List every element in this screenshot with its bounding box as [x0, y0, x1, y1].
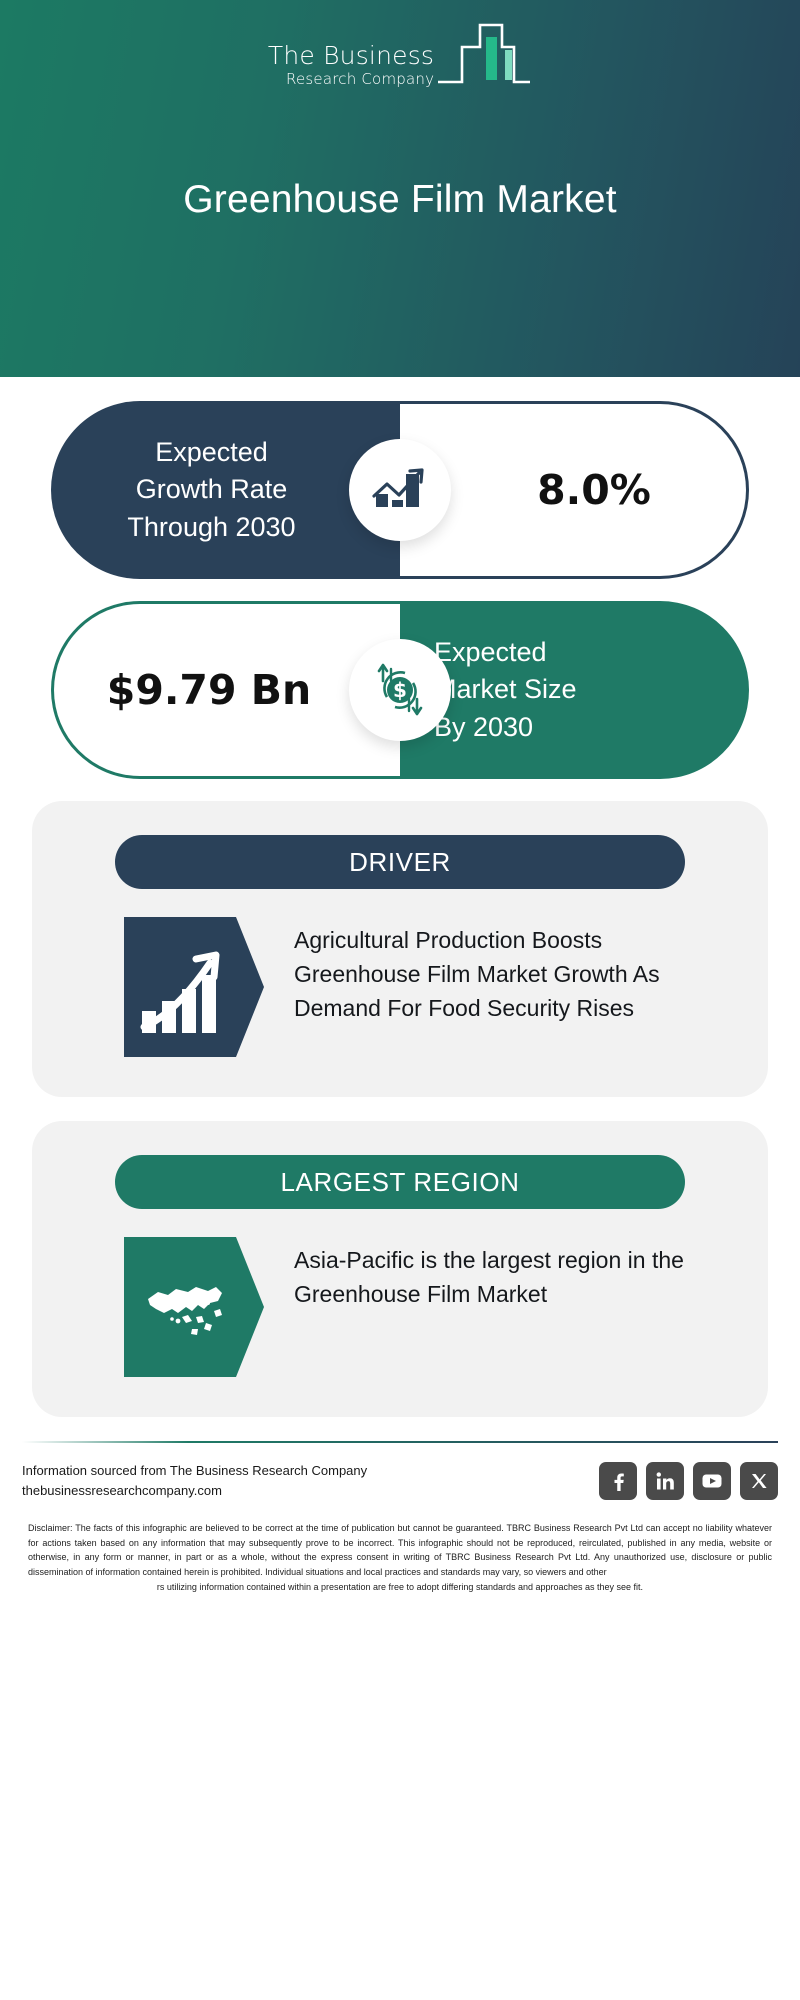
stat-label-line-2: Market Size: [434, 674, 577, 704]
header-banner: The Business Research Company Greenhouse…: [0, 0, 800, 377]
stat-value: $9.79 Bn: [107, 666, 347, 714]
social-links: [599, 1462, 778, 1500]
footer: Information sourced from The Business Re…: [0, 1441, 800, 1594]
disclaimer-last-line: rs utilizing information contained withi…: [28, 1580, 772, 1595]
section-text: Agricultural Production Boosts Greenhous…: [294, 917, 728, 1025]
stat-label-line-2: Growth Rate: [136, 474, 288, 504]
stat-value-panel: 8.0%: [400, 401, 749, 579]
section-pill-driver: DRIVER: [115, 835, 685, 889]
disclaimer-body: Disclaimer: The facts of this infographi…: [28, 1523, 772, 1577]
growth-chart-arrow-icon: [349, 439, 451, 541]
stat-label-line-1: Expected: [434, 637, 547, 667]
infographic-page: The Business Research Company Greenhouse…: [0, 0, 800, 2000]
dollar-circulation-icon: $: [349, 639, 451, 741]
stat-label: Expected Market Size By 2030: [400, 634, 749, 746]
x-twitter-icon[interactable]: [740, 1462, 778, 1500]
section-driver: DRIVER Agricultural Production Boosts Gr…: [32, 801, 768, 1097]
facebook-icon[interactable]: [599, 1462, 637, 1500]
logo-secondary-text: Research Company: [268, 70, 434, 90]
stat-label: Expected Growth Rate Through 2030: [127, 434, 323, 546]
stat-value: 8.0%: [495, 466, 651, 514]
svg-text:$: $: [393, 678, 407, 702]
stat-label-line-1: Expected: [155, 437, 268, 467]
asia-pacific-map-icon: [124, 1237, 264, 1377]
footer-source-line-2[interactable]: thebusinessresearchcompany.com: [22, 1481, 367, 1501]
rising-bar-chart-arrow-icon: [124, 917, 264, 1057]
stat-label-panel: Expected Growth Rate Through 2030: [51, 401, 400, 579]
youtube-icon[interactable]: [693, 1462, 731, 1500]
disclaimer-text: Disclaimer: The facts of this infographi…: [22, 1521, 778, 1594]
section-largest-region: LARGEST REGION: [32, 1121, 768, 1417]
section-pill-largest-region: LARGEST REGION: [115, 1155, 685, 1209]
footer-divider: [22, 1441, 778, 1443]
company-logo: The Business Research Company: [0, 20, 800, 93]
page-title: Greenhouse Film Market: [0, 178, 800, 222]
stat-label-line-3: Through 2030: [127, 512, 295, 542]
section-text: Asia-Pacific is the largest region in th…: [294, 1237, 728, 1311]
footer-source: Information sourced from The Business Re…: [22, 1461, 367, 1501]
section-pill-label: DRIVER: [349, 847, 451, 878]
stat-card-market-size: $9.79 Bn Expected Market Size By 2030 $: [51, 601, 749, 779]
stat-label-panel: Expected Market Size By 2030: [400, 601, 749, 779]
logo-primary-text: The Business: [268, 43, 434, 69]
stat-cards: Expected Growth Rate Through 2030 8.0%: [0, 377, 800, 779]
stat-value-panel: $9.79 Bn: [51, 601, 400, 779]
bar-chart-logo-icon: [436, 20, 532, 91]
section-pill-label: LARGEST REGION: [280, 1167, 519, 1198]
footer-source-line-1: Information sourced from The Business Re…: [22, 1461, 367, 1481]
linkedin-icon[interactable]: [646, 1462, 684, 1500]
stat-card-growth-rate: Expected Growth Rate Through 2030 8.0%: [51, 401, 749, 579]
stat-label-line-3: By 2030: [434, 712, 533, 742]
